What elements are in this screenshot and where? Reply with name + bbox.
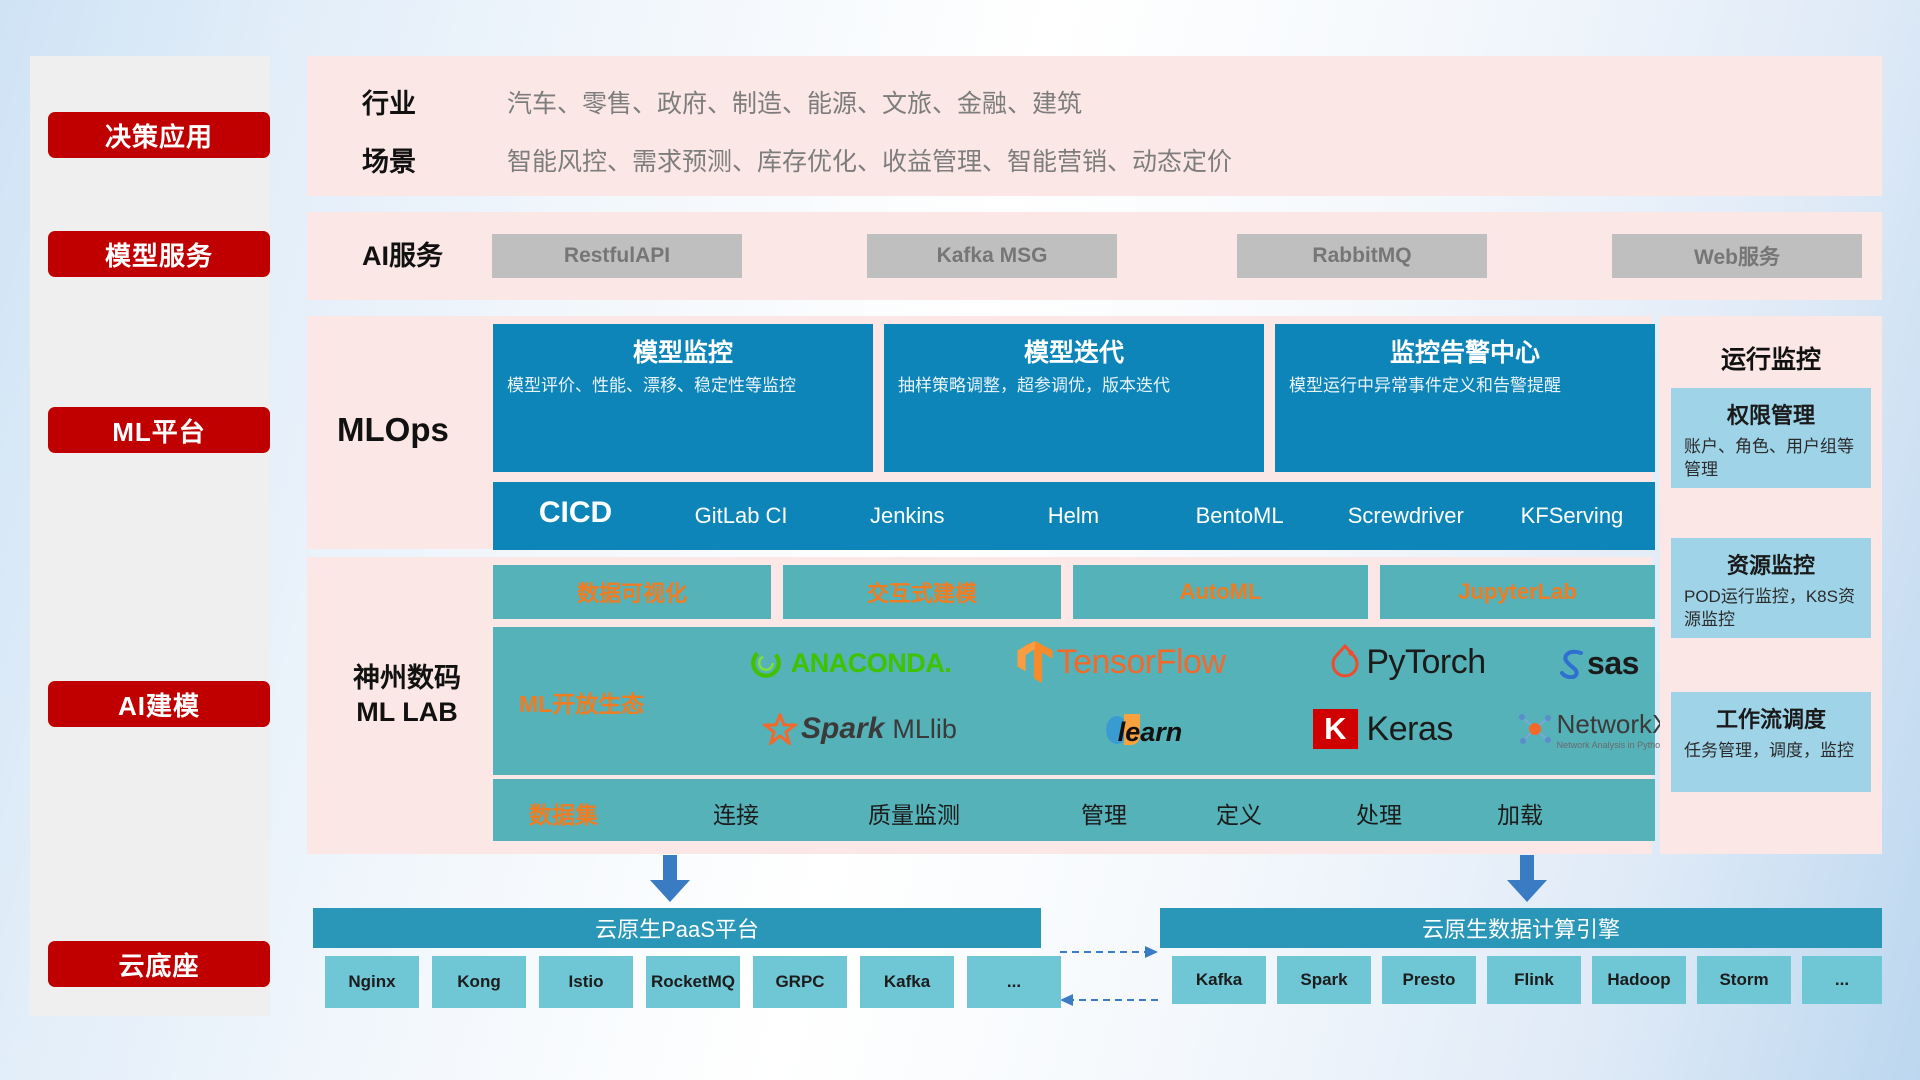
- chip-label: Flink: [1514, 970, 1554, 990]
- tensorflow-logo: TensorFlow: [981, 633, 1261, 691]
- mllib-label: MLlib: [892, 714, 957, 745]
- paas-chip-more[interactable]: ...: [967, 956, 1061, 1008]
- arrow-up-right: [1507, 855, 1547, 902]
- chip-label: Spark: [1300, 970, 1347, 990]
- keras-label: Keras: [1367, 710, 1453, 749]
- engine-chip-hadoop[interactable]: Hadoop: [1592, 956, 1686, 1004]
- dataset-item-load[interactable]: 加载: [1497, 796, 1543, 830]
- service-pill-kafka[interactable]: Kafka MSG: [867, 234, 1117, 278]
- ai-service-label: AI服务: [362, 234, 443, 273]
- engine-chip-presto[interactable]: Presto: [1382, 956, 1476, 1004]
- card-title: 监控告警中心: [1275, 324, 1655, 369]
- chip-label: Storm: [1719, 970, 1768, 990]
- card-title: 模型迭代: [884, 324, 1264, 369]
- monitor-panel: 运行监控 权限管理 账户、角色、用户组等管理 资源监控 POD运行监控，K8S资…: [1660, 316, 1882, 854]
- decision-band: 行业 汽车、零售、政府、制造、能源、文旅、金融、建筑 场景 智能风控、需求预测、…: [307, 56, 1882, 196]
- paas-chip-kong[interactable]: Kong: [432, 956, 526, 1008]
- monitor-card-workflow[interactable]: 工作流调度 任务管理，调度，监控: [1671, 692, 1871, 792]
- stage-chip-cloud-base[interactable]: 云底座: [48, 941, 270, 987]
- monitor-card-title: 工作流调度: [1671, 692, 1871, 734]
- stage-label: 模型服务: [105, 236, 213, 273]
- monitor-card-resource[interactable]: 资源监控 POD运行监控，K8S资源监控: [1671, 538, 1871, 638]
- chip-label: ...: [1007, 972, 1021, 992]
- engine-chip-flink[interactable]: Flink: [1487, 956, 1581, 1004]
- stage-chip-ai-modeling[interactable]: AI建模: [48, 681, 270, 727]
- chip-label: Kafka: [884, 972, 930, 992]
- dataset-label: 数据集: [529, 796, 598, 830]
- modeling-tab-jupyterlab[interactable]: JupyterLab: [1380, 565, 1655, 619]
- sas-label: sas: [1587, 645, 1639, 682]
- networkx-tagline: Network Analysis in Python: [1557, 740, 1670, 750]
- service-pill-restful[interactable]: RestfulAPI: [492, 234, 742, 278]
- data-engine-bar-label: 云原生数据计算引擎: [1422, 912, 1620, 944]
- paas-chip-istio[interactable]: Istio: [539, 956, 633, 1008]
- paas-bar-label: 云原生PaaS平台: [595, 912, 759, 944]
- modeling-band: 神州数码 ML LAB 数据可视化 交互式建模 AutoML JupyterLa…: [307, 557, 1652, 854]
- engine-chip-spark[interactable]: Spark: [1277, 956, 1371, 1004]
- service-pill-label: Kafka MSG: [937, 244, 1048, 268]
- tab-label: JupyterLab: [1458, 579, 1577, 605]
- service-pill-label: RestfulAPI: [564, 244, 670, 268]
- engine-chip-kafka[interactable]: Kafka: [1172, 956, 1266, 1004]
- modeling-tab-visualization[interactable]: 数据可视化: [493, 565, 771, 619]
- service-pill-label: Web服务: [1694, 241, 1780, 271]
- scikit-learn-label: learn: [1118, 717, 1183, 748]
- monitor-panel-title: 运行监控: [1660, 340, 1882, 376]
- monitor-card-title: 资源监控: [1671, 538, 1871, 580]
- stage-chip-decision[interactable]: 决策应用: [48, 112, 270, 158]
- anaconda-logo: ANACONDA.: [725, 635, 975, 691]
- service-pill-rabbitmq[interactable]: RabbitMQ: [1237, 234, 1487, 278]
- paas-chip-nginx[interactable]: Nginx: [325, 956, 419, 1008]
- paas-chip-rocketmq[interactable]: RocketMQ: [646, 956, 740, 1008]
- mlops-band: MLOps 模型监控 模型评价、性能、漂移、稳定性等监控 模型迭代 抽样策略调整…: [307, 316, 1652, 549]
- industry-label: 行业: [362, 82, 416, 121]
- keras-mark: K: [1313, 709, 1357, 749]
- dashed-arrow-right: [1145, 946, 1158, 958]
- chip-label: RocketMQ: [651, 972, 735, 992]
- cicd-item-gitlab[interactable]: GitLab CI: [658, 482, 824, 531]
- tab-label: AutoML: [1180, 579, 1262, 605]
- tab-label: 交互式建模: [867, 576, 977, 608]
- spark-label: Spark: [801, 712, 884, 746]
- monitor-card-desc: 任务管理，调度，监控: [1671, 734, 1871, 763]
- pytorch-label: PyTorch: [1366, 643, 1485, 682]
- monitor-card-permission[interactable]: 权限管理 账户、角色、用户组等管理: [1671, 388, 1871, 488]
- dashed-arrow-left: [1060, 994, 1073, 1006]
- modeling-tab-automl[interactable]: AutoML: [1073, 565, 1368, 619]
- monitor-card-desc: 账户、角色、用户组等管理: [1671, 430, 1871, 482]
- arrow-up-left: [650, 855, 690, 902]
- cicd-item-jenkins[interactable]: Jenkins: [824, 482, 990, 531]
- paas-bar[interactable]: 云原生PaaS平台: [313, 908, 1041, 948]
- keras-logo: K Keras: [1268, 699, 1498, 759]
- mlops-card-iteration[interactable]: 模型迭代 抽样策略调整，超参调优，版本迭代: [884, 324, 1264, 472]
- scenario-label: 场景: [362, 140, 416, 179]
- card-title: 模型监控: [493, 324, 873, 369]
- paas-chip-grpc[interactable]: GRPC: [753, 956, 847, 1008]
- stage-label: ML平台: [112, 412, 206, 449]
- chip-label: ...: [1835, 970, 1849, 990]
- cicd-item-screwdriver[interactable]: Screwdriver: [1323, 482, 1489, 531]
- cicd-item-helm[interactable]: Helm: [990, 482, 1156, 531]
- tab-label: 数据可视化: [577, 576, 687, 608]
- chip-label: Kafka: [1196, 970, 1242, 990]
- sas-logo: sas: [1523, 635, 1673, 691]
- monitor-card-desc: POD运行监控，K8S资源监控: [1671, 580, 1871, 632]
- cicd-item-kfserving[interactable]: KFServing: [1489, 482, 1655, 531]
- service-pill-web[interactable]: Web服务: [1612, 234, 1862, 278]
- dataset-row: 数据集 连接 质量监测 管理 定义 处理 加载: [493, 779, 1655, 841]
- ml-lab-label: 神州数码 ML LAB: [327, 662, 487, 730]
- stage-label: 云底座: [118, 946, 199, 983]
- industry-text: 汽车、零售、政府、制造、能源、文旅、金融、建筑: [507, 84, 1082, 120]
- service-band: AI服务 RestfulAPI Kafka MSG RabbitMQ Web服务: [307, 212, 1882, 300]
- stage-label: AI建模: [118, 686, 200, 723]
- pytorch-logo: PyTorch: [1283, 633, 1533, 691]
- stage-chip-model-service[interactable]: 模型服务: [48, 231, 270, 277]
- eco-label: ML开放生态: [519, 685, 644, 719]
- card-desc: 模型运行中异常事件定义和告警提醒: [1275, 369, 1655, 398]
- ml-lab-line2: ML LAB: [327, 696, 487, 730]
- data-engine-bar[interactable]: 云原生数据计算引擎: [1160, 908, 1882, 948]
- engine-chip-storm[interactable]: Storm: [1697, 956, 1791, 1004]
- cicd-bar: CICD GitLab CI Jenkins Helm BentoML Scre…: [493, 482, 1655, 550]
- stage-label: 决策应用: [105, 117, 213, 154]
- mlops-label: MLOps: [337, 411, 449, 449]
- paas-chip-kafka[interactable]: Kafka: [860, 956, 954, 1008]
- mlops-card-monitoring[interactable]: 模型监控 模型评价、性能、漂移、稳定性等监控: [493, 324, 873, 472]
- cicd-title: CICD: [493, 482, 658, 530]
- card-desc: 抽样策略调整，超参调优，版本迭代: [884, 369, 1264, 398]
- chip-label: Kong: [457, 972, 500, 992]
- engine-chip-more[interactable]: ...: [1802, 956, 1882, 1004]
- stage-rail: [30, 56, 270, 1016]
- card-desc: 模型评价、性能、漂移、稳定性等监控: [493, 369, 873, 398]
- scenario-text: 智能风控、需求预测、库存优化、收益管理、智能营销、动态定价: [507, 142, 1232, 178]
- mlops-card-alert-center[interactable]: 监控告警中心 模型运行中异常事件定义和告警提醒: [1275, 324, 1655, 472]
- chip-label: Nginx: [348, 972, 395, 992]
- dataset-item-process[interactable]: 处理: [1356, 796, 1402, 830]
- dataset-item-connect[interactable]: 连接: [713, 796, 759, 830]
- monitor-card-title: 权限管理: [1671, 388, 1871, 430]
- chip-label: Istio: [569, 972, 604, 992]
- dataset-item-define[interactable]: 定义: [1216, 796, 1262, 830]
- stage-chip-ml-platform[interactable]: ML平台: [48, 407, 270, 453]
- chip-label: Hadoop: [1607, 970, 1670, 990]
- tensorflow-label: TensorFlow: [1057, 643, 1226, 682]
- chip-label: Presto: [1403, 970, 1456, 990]
- architecture-diagram: 决策应用 模型服务 ML平台 AI建模 云底座 行业 汽车、零售、政府、制造、能…: [0, 0, 1920, 1080]
- cicd-item-bentoml[interactable]: BentoML: [1157, 482, 1323, 531]
- modeling-tab-interactive[interactable]: 交互式建模: [783, 565, 1061, 619]
- spark-mllib-logo: Spark MLlib: [725, 699, 995, 759]
- anaconda-label: ANACONDA.: [791, 648, 952, 679]
- eco-block: ML开放生态 ANACONDA. TensorFlow PyTorch: [493, 627, 1655, 775]
- dataset-item-quality[interactable]: 质量监测: [868, 796, 960, 830]
- chip-label: GRPC: [775, 972, 824, 992]
- dataset-item-manage[interactable]: 管理: [1081, 796, 1127, 830]
- networkx-label: NetworkX: [1557, 709, 1670, 740]
- service-pill-label: RabbitMQ: [1312, 244, 1411, 268]
- ml-lab-line1: 神州数码: [327, 662, 487, 696]
- scikit-learn-logo: learn: [1033, 699, 1253, 759]
